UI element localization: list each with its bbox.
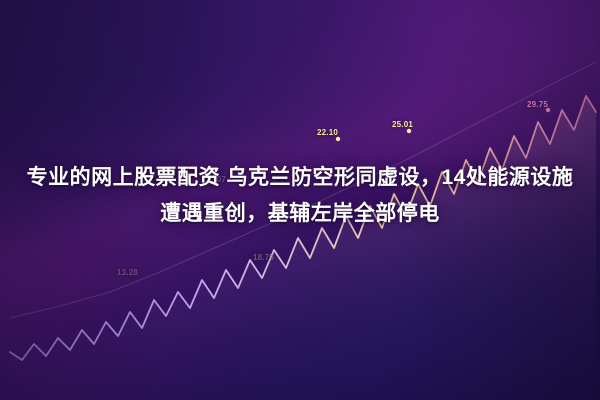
stock-market-news-banner: 10.07 22.10 25.01 29.75 18.75 13.28 专业的网… bbox=[0, 0, 600, 400]
chart-annotation-4: 18.75 bbox=[253, 253, 274, 262]
chart-annotation-3: 29.75 bbox=[527, 100, 548, 109]
chart-highlight-points bbox=[336, 108, 550, 141]
headline-container: 专业的网上股票配资 乌克兰防空形同虚设，14处能源设施遭遇重创，基辅左岸全部停电 bbox=[0, 160, 600, 232]
chart-annotation-1: 22.10 bbox=[317, 128, 338, 137]
headline-text: 专业的网上股票配资 乌克兰防空形同虚设，14处能源设施遭遇重创，基辅左岸全部停电 bbox=[18, 160, 582, 232]
chart-annotation-5: 13.28 bbox=[117, 268, 138, 277]
chart-annotation-2: 25.01 bbox=[392, 120, 413, 129]
